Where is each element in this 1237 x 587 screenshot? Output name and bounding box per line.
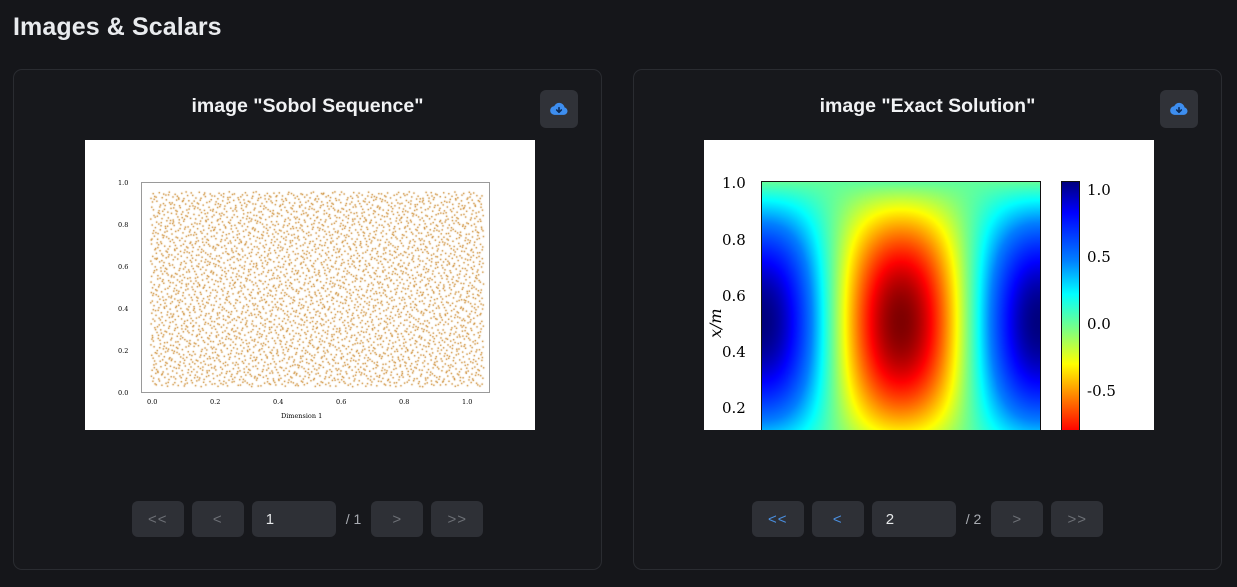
sobol-xtick-3: 0.6 [336,398,346,406]
hm-ytick-2: 0.4 [722,343,746,361]
hm-ytick-1: 0.2 [722,399,746,417]
cloud-download-icon-button[interactable] [540,90,578,128]
cloud-download-icon-button[interactable] [1160,90,1198,128]
hm-ytick-3: 0.6 [722,287,746,305]
sobol-xtick-1: 0.2 [210,398,220,406]
hm-ytick-5: 1.0 [722,174,746,192]
last-page-button[interactable]: >> [431,501,483,537]
hm-yaxis-label: x/m [706,308,725,338]
colorbar [1061,181,1080,430]
page-title: Images & Scalars [13,13,222,42]
sobol-axes-frame [141,182,490,393]
heatmap-surface [762,182,1040,430]
sobol-ytick-3: 0.6 [118,263,128,271]
prev-page-button[interactable]: < [812,501,864,537]
sobol-xtick-0: 0.0 [147,398,157,406]
prev-page-button[interactable]: < [192,501,244,537]
next-page-button[interactable]: > [991,501,1043,537]
next-page-button[interactable]: > [371,501,423,537]
heatmap-axes-frame [761,181,1041,430]
exact-solution-image: 0.0 0.2 0.4 0.6 0.8 1.0 0.0 0.2 0.4 0.6 … [704,140,1154,430]
sobol-ytick-5: 1.0 [118,179,128,187]
panel-title: image "Exact Solution" [634,95,1221,118]
first-page-button[interactable]: << [752,501,804,537]
sobol-scatter-points [142,183,490,393]
sobol-ytick-0: 0.0 [118,389,128,397]
sobol-ytick-2: 0.4 [118,305,128,313]
sobol-ytick-4: 0.8 [118,221,128,229]
sobol-xtick-5: 1.0 [462,398,472,406]
sobol-xtick-2: 0.4 [273,398,283,406]
panel-title: image "Sobol Sequence" [14,95,601,118]
cb-tick-3: -0.5 [1087,382,1116,400]
pagination-sobol: << < / 1 > >> [14,501,601,537]
cloud-download-icon [549,99,569,119]
last-page-button[interactable]: >> [1051,501,1103,537]
sobol-xtick-4: 0.8 [399,398,409,406]
sobol-image: 0.0 0.2 0.4 0.6 0.8 1.0 0.0 0.2 0.4 0.6 … [85,140,535,430]
image-panel-exact: image "Exact Solution" 0.0 0.2 0.4 0.6 0… [633,69,1222,570]
page-number-input[interactable] [872,501,956,537]
page-total-label: / 2 [964,511,984,527]
image-panel-sobol: image "Sobol Sequence" 0.0 0.2 0.4 0.6 0… [13,69,602,570]
hm-ytick-4: 0.8 [722,231,746,249]
exact-solution-figure: 0.0 0.2 0.4 0.6 0.8 1.0 0.0 0.2 0.4 0.6 … [704,140,1154,430]
cloud-download-icon [1169,99,1189,119]
page-number-input[interactable] [252,501,336,537]
cb-tick-1: 0.5 [1087,248,1111,266]
sobol-figure: 0.0 0.2 0.4 0.6 0.8 1.0 0.0 0.2 0.4 0.6 … [85,140,535,430]
sobol-ytick-1: 0.2 [118,347,128,355]
cb-tick-0: 1.0 [1087,181,1111,199]
cb-tick-2: 0.0 [1087,315,1111,333]
page-total-label: / 1 [344,511,364,527]
pagination-exact: << < / 2 > >> [634,501,1221,537]
first-page-button[interactable]: << [132,501,184,537]
sobol-xaxis-label: Dimension 1 [281,412,322,420]
